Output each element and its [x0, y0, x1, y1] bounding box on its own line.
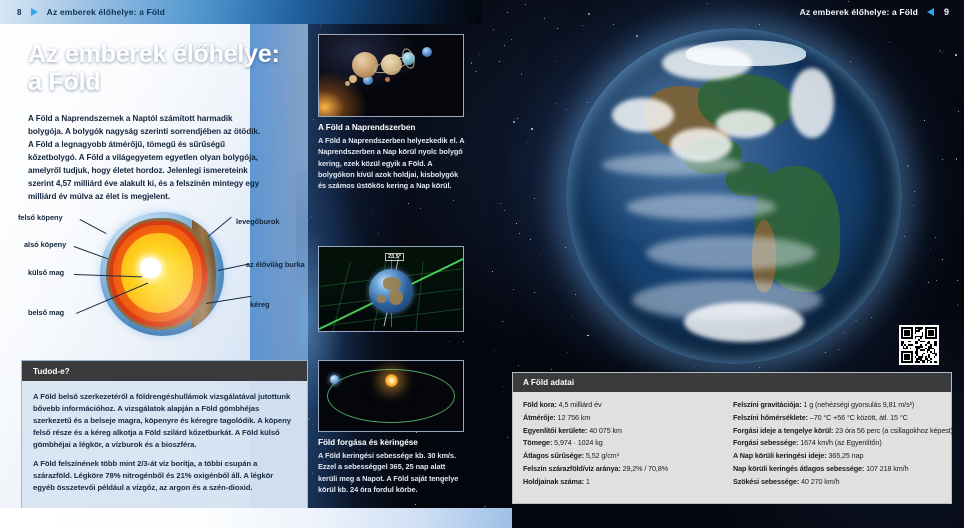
- left-header-title: Az emberek élőhelye: a Föld: [47, 7, 165, 17]
- did-you-know-heading: Tudod-e?: [22, 361, 307, 381]
- solar-system-caption-text: A Föld a Naprendszerben helyezkedik el. …: [318, 135, 466, 191]
- table-row: Átmérője: 12 756 km: [523, 412, 725, 425]
- table-row: Átlagos sűrűsége: 5,52 g/cm³: [523, 450, 725, 463]
- table-row: Felszín szárazföld/víz aránya: 29,2% / 7…: [523, 463, 725, 476]
- lead-paragraph: A Föld a Naprendszernek a Naptól számíto…: [28, 113, 265, 204]
- right-page-number: 9: [944, 7, 949, 17]
- did-you-know-body: A Föld belső szerkezetéről a földrengésh…: [22, 381, 307, 494]
- crust-cut-band: [192, 220, 216, 332]
- did-you-know-panel: Tudod-e? A Föld belső szerkezetéről a fö…: [21, 360, 308, 510]
- did-you-know-paragraph-2: A Föld felszínének több mint 2/3-át víz …: [33, 458, 296, 494]
- continent-shape-2: [389, 289, 403, 305]
- grid-v-3: [415, 261, 424, 332]
- sun-orbit-center: [385, 374, 398, 387]
- table-row: Egyenlítői kerülete: 40 075 km: [523, 425, 725, 438]
- table-row: Nap körüli keringés átlagos sebessége: 1…: [733, 463, 943, 476]
- spread-page: 8 Az emberek élőhelye: a Föld Az emberek…: [0, 0, 964, 528]
- did-you-know-paragraph-1: A Föld belső szerkezetéről a földrengésh…: [33, 391, 296, 451]
- earth-on-orbit: [330, 375, 339, 384]
- orbit-figure: Föld forgása és keringése A Föld keringé…: [318, 360, 466, 495]
- table-row: Felszíni gravitációja: 1 g (nehézségi gy…: [733, 399, 943, 412]
- triangle-left-icon[interactable]: [927, 8, 934, 16]
- qr-code[interactable]: [899, 325, 939, 365]
- earth-data-column-right: Felszíni gravitációja: 1 g (nehézségi gy…: [733, 399, 943, 489]
- earth-cross-section-globe: [100, 212, 224, 336]
- solar-system-figure: A Föld a Naprendszerben A Föld a Naprend…: [318, 34, 466, 191]
- xsec-label-also-kopeny: alsó köpeny: [24, 240, 66, 249]
- page-title: Az emberek élőhelye:a Föld: [28, 40, 303, 97]
- leader-line-5: [208, 217, 232, 237]
- layer-upper-mantle: [109, 221, 207, 327]
- table-row: Felszíni hőmérséklete: –70 °C +56 °C köz…: [733, 412, 943, 425]
- earth-cross-section-figure: felső köpeny alsó köpeny külső mag belső…: [14, 208, 310, 340]
- bottom-page-strip: [0, 508, 512, 528]
- solar-system-illustration: [318, 34, 464, 117]
- table-row: Forgási sebessége: 1674 km/h (az Egyenlí…: [733, 437, 943, 450]
- continent-shape-3: [377, 295, 386, 303]
- table-row: Holdjainak száma: 1: [523, 476, 725, 489]
- right-header-title: Az emberek élőhelye: a Föld: [800, 7, 918, 17]
- earth-data-column-left: Föld kora: 4,5 milliárd évÁtmérője: 12 7…: [523, 399, 725, 489]
- earth-data-table-heading: A Föld adatai: [513, 373, 951, 392]
- xsec-label-felso-kopeny: felső köpeny: [18, 213, 63, 222]
- layer-outer-core: [121, 233, 193, 313]
- earth-axial-tilt-illustration: 23,5°: [318, 246, 464, 332]
- table-row: Szökési sebessége: 40 270 km/h: [733, 476, 943, 489]
- solar-system-caption-title: A Föld a Naprendszerben: [318, 123, 466, 132]
- xsec-label-belso-mag: belső mag: [28, 308, 64, 317]
- xsec-label-kulso-mag: külső mag: [28, 268, 64, 277]
- earth-from-space-photo: [566, 28, 902, 364]
- xsec-label-kereg: kéreg: [250, 300, 269, 309]
- left-page-number: 8: [17, 8, 22, 17]
- right-page-header: Az emberek élőhelye: a Föld 9: [800, 0, 964, 24]
- table-row: Tömege: 5,974 · 1024 kg: [523, 437, 725, 450]
- table-row: A Nap körüli keringési ideje: 365,25 nap: [733, 450, 943, 463]
- atmosphere-limb: [566, 28, 902, 364]
- left-page-header: 8 Az emberek élőhelye: a Föld: [0, 0, 482, 24]
- table-row: Föld kora: 4,5 milliárd év: [523, 399, 725, 412]
- layer-lower-mantle: [113, 225, 202, 322]
- orbit-caption-title: Föld forgása és keringése: [318, 438, 466, 447]
- tilt-angle-label: 23,5°: [385, 253, 404, 261]
- earth-data-table: A Föld adatai Föld kora: 4,5 milliárd év…: [512, 372, 952, 504]
- earth-data-table-body: Föld kora: 4,5 milliárd évÁtmérője: 12 7…: [513, 392, 951, 489]
- planet-jupiter: [352, 52, 378, 78]
- layer-inner-core: [140, 258, 161, 278]
- xsec-label-levegoburok: levegőburok: [236, 217, 279, 226]
- xsec-label-elovilag-burka: az élővilág burka: [246, 260, 305, 269]
- earth-tilted-globe: [369, 269, 413, 313]
- orbit-caption-text: A Föld keringési sebessége kb. 30 km/s. …: [318, 450, 466, 495]
- axial-tilt-figure: 23,5°: [318, 246, 466, 332]
- continent-shape-1: [383, 277, 401, 290]
- layer-crust: [106, 218, 211, 330]
- planet-venus: [349, 75, 357, 83]
- leader-line-1: [80, 219, 107, 234]
- table-row: Forgási ideje a tengelye körül: 23 óra 5…: [733, 425, 943, 438]
- triangle-right-icon[interactable]: [31, 8, 38, 16]
- planet-neptune: [422, 47, 432, 57]
- planet-mars: [385, 77, 390, 82]
- earth-orbit-illustration: [318, 360, 464, 432]
